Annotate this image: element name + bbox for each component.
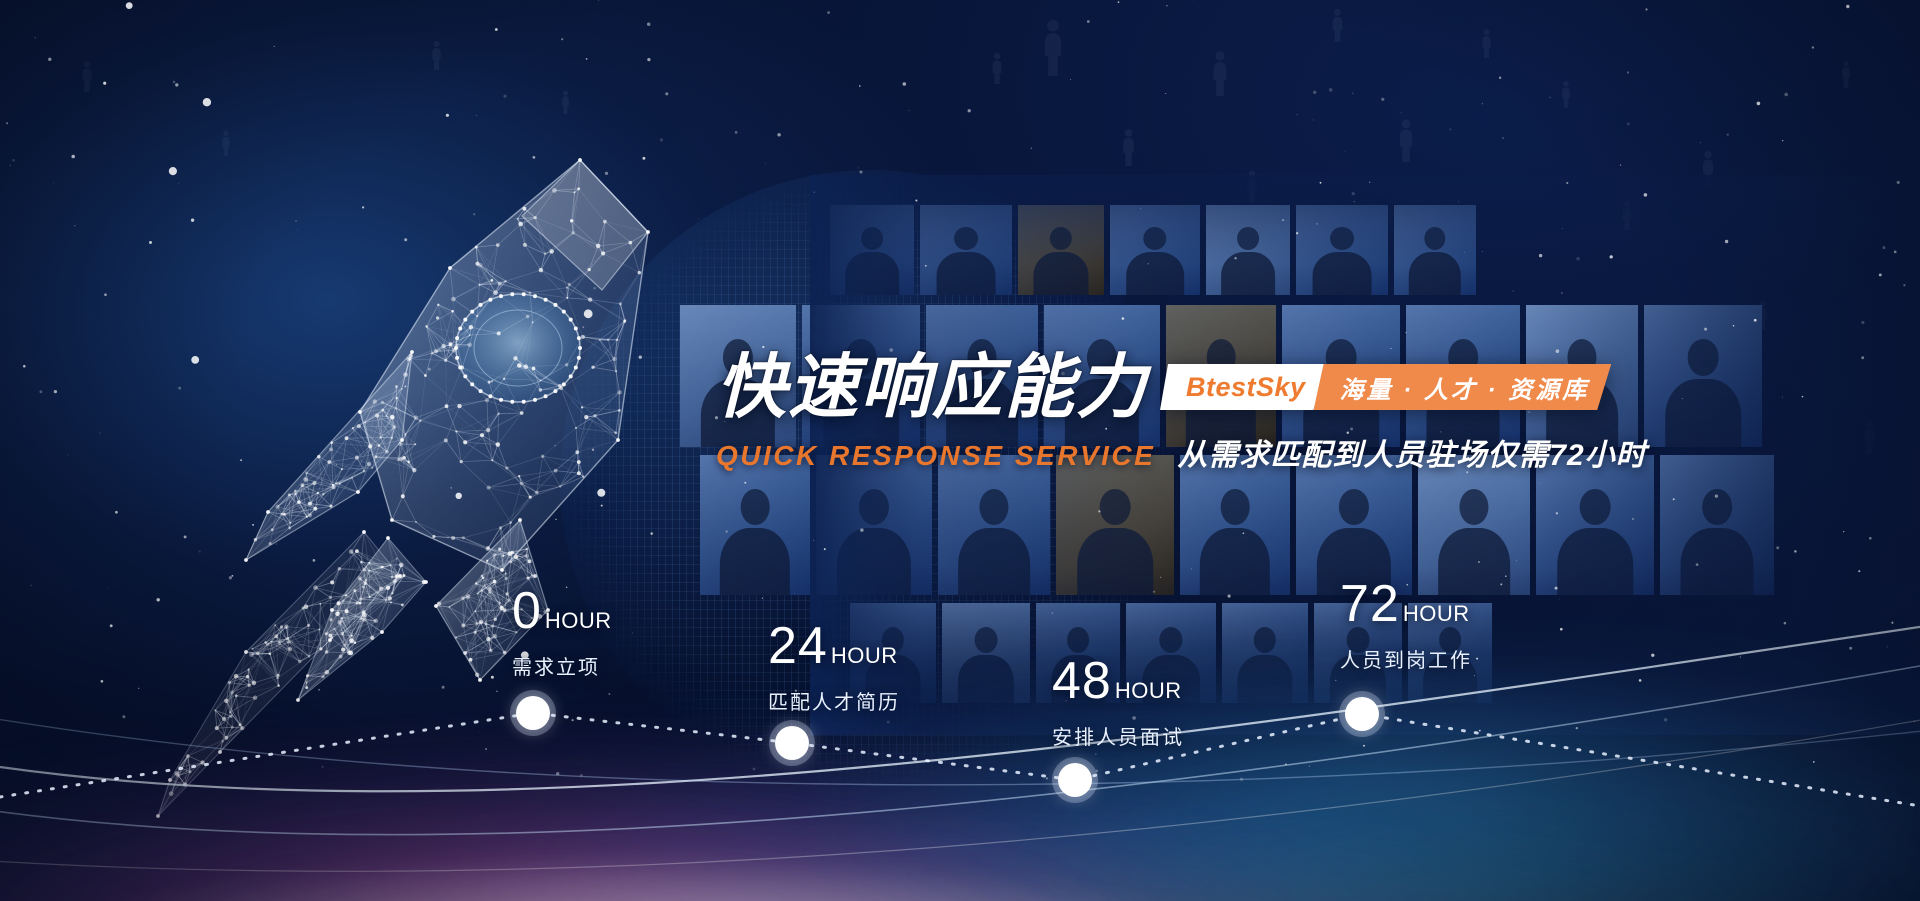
timeline-step-caption: 匹配人才简历 xyxy=(768,686,900,715)
timeline-step-number: 48HOUR xyxy=(1052,655,1184,707)
timeline-step-number: 72HOUR xyxy=(1340,578,1472,630)
timeline-dot-icon[interactable] xyxy=(516,696,550,730)
timeline-steps: 0HOUR需求立项24HOUR匹配人才简历48HOUR安排人员面试72HOUR人… xyxy=(0,0,1920,901)
timeline-step-24: 24HOUR匹配人才简历 xyxy=(768,620,900,715)
timeline-step-value: 48 xyxy=(1052,655,1112,707)
timeline-step-value: 72 xyxy=(1340,578,1400,630)
timeline-step-48: 48HOUR安排人员面试 xyxy=(1052,655,1184,750)
timeline-step-number: 0HOUR xyxy=(512,585,612,637)
timeline-step-0: 0HOUR需求立项 xyxy=(512,585,612,680)
timeline-step-caption: 需求立项 xyxy=(512,651,612,680)
timeline-step-unit: HOUR xyxy=(545,608,612,634)
timeline-step-value: 24 xyxy=(768,620,828,672)
timeline-step-unit: HOUR xyxy=(831,643,898,669)
timeline-dot-icon[interactable] xyxy=(775,726,809,760)
timeline-step-value: 0 xyxy=(512,585,542,637)
timeline-step-unit: HOUR xyxy=(1115,678,1182,704)
timeline-step-72: 72HOUR人员到岗工作 xyxy=(1340,578,1472,673)
timeline-step-unit: HOUR xyxy=(1403,601,1470,627)
timeline-step-caption: 人员到岗工作 xyxy=(1340,644,1472,673)
timeline-step-caption: 安排人员面试 xyxy=(1052,721,1184,750)
timeline-step-number: 24HOUR xyxy=(768,620,900,672)
timeline-dot-icon[interactable] xyxy=(1345,697,1379,731)
hero-banner: 0HOUR需求立项24HOUR匹配人才简历48HOUR安排人员面试72HOUR人… xyxy=(0,0,1920,901)
timeline-dot-icon[interactable] xyxy=(1058,763,1092,797)
